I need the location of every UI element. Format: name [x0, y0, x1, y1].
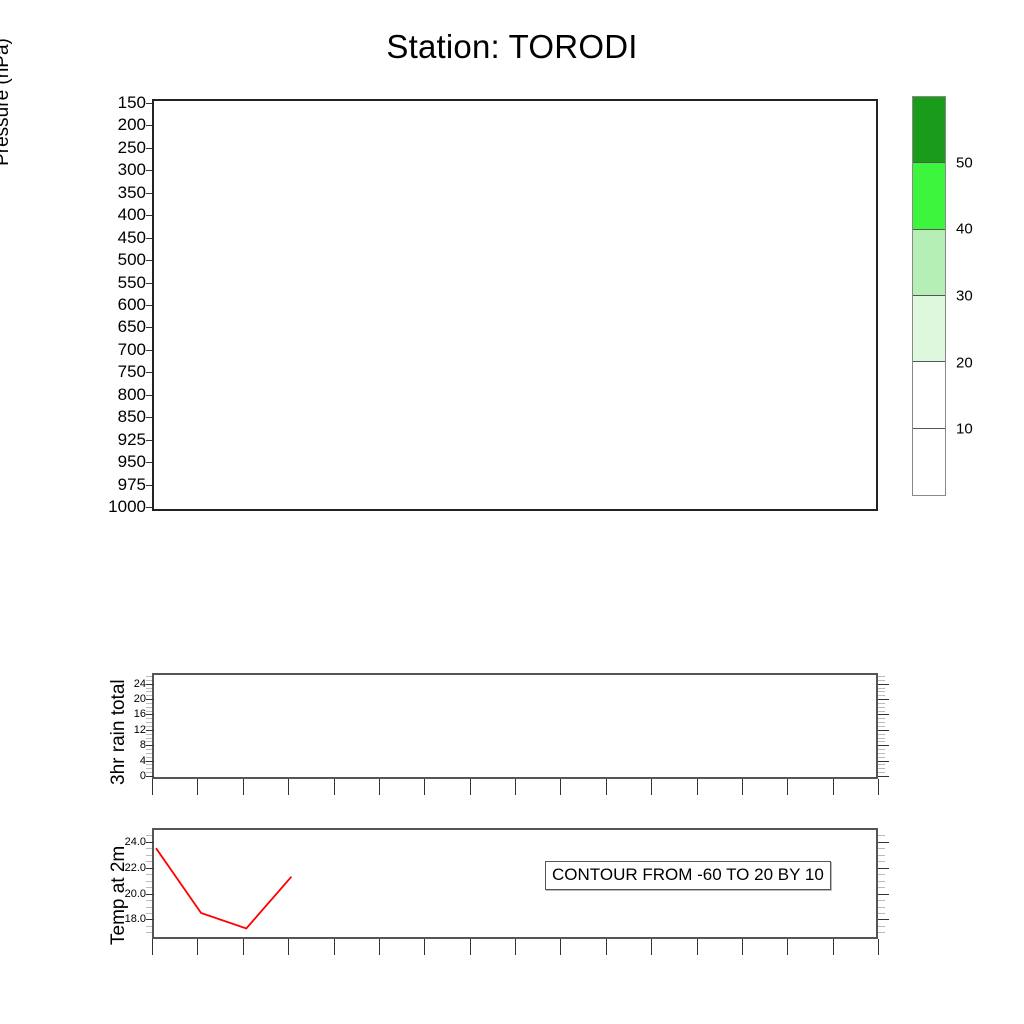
temp-x-tick	[878, 939, 879, 955]
rain-x-tick	[470, 779, 471, 795]
temp-tick-24.0: 24.0	[96, 836, 146, 848]
pressure-tick-350: 350	[84, 183, 146, 203]
rain-right-tickmark	[878, 688, 885, 689]
temp-minor-tick	[146, 907, 152, 908]
temp-right-tickmark	[878, 855, 885, 856]
rain-minor-tick	[146, 714, 152, 715]
temp-minor-tick	[146, 874, 152, 875]
rain-minor-tick	[146, 749, 152, 750]
pressure-tick-750: 750	[84, 362, 146, 382]
temp-minor-tick	[146, 842, 152, 843]
pressure-tick-950: 950	[84, 452, 146, 472]
rain-right-tickmark	[878, 761, 889, 762]
rain-minor-tick	[146, 691, 152, 692]
temp-x-tick	[787, 939, 788, 955]
rain-right-tickmark	[878, 738, 885, 739]
temp-minor-tick	[146, 848, 152, 849]
temp-right-tickmark	[878, 919, 889, 920]
temp-x-tick	[152, 939, 153, 955]
rain-minor-tick	[146, 757, 152, 758]
temp-minor-ticks	[146, 828, 158, 939]
rain-x-axis-ticks	[152, 779, 878, 797]
rain-x-tick	[697, 779, 698, 795]
pressure-tick-550: 550	[84, 273, 146, 293]
rain-right-tickmark	[878, 749, 885, 750]
rain-minor-tick	[146, 745, 152, 746]
temp-minor-tick	[146, 887, 152, 888]
rain-minor-tick	[146, 730, 152, 731]
cross-section-frame	[152, 99, 878, 511]
pressure-tick-300: 300	[84, 160, 146, 180]
temp-x-tick	[833, 939, 834, 955]
rain-right-tickmark	[878, 757, 885, 758]
rain-x-tick	[334, 779, 335, 795]
temp-x-tick	[424, 939, 425, 955]
rain-minor-tick	[146, 764, 152, 765]
rain-x-tick	[197, 779, 198, 795]
rain-x-tick	[379, 779, 380, 795]
pressure-tick-450: 450	[84, 228, 146, 248]
temp-x-tick	[606, 939, 607, 955]
pressure-tick-600: 600	[84, 295, 146, 315]
rain-minor-tick	[146, 741, 152, 742]
rain-right-tickmark	[878, 691, 885, 692]
pressure-tick-200: 200	[84, 115, 146, 135]
temp-x-tick	[560, 939, 561, 955]
rain-right-tickmark	[878, 772, 885, 773]
temp-x-tick	[288, 939, 289, 955]
pressure-tick-500: 500	[84, 250, 146, 270]
rain-x-tick	[606, 779, 607, 795]
temp-tick-20.0: 20.0	[96, 888, 146, 900]
rain-right-tickmark	[878, 753, 885, 754]
rain-right-tickmark	[878, 703, 885, 704]
temp-minor-tick	[146, 919, 152, 920]
page-title: Station: TORODI	[0, 28, 1024, 66]
rain-series-canvas	[154, 675, 876, 777]
temp-right-ticks	[876, 828, 890, 939]
rain-right-tickmark	[878, 707, 885, 708]
temp-minor-tick	[146, 894, 152, 895]
rain-minor-tick	[146, 753, 152, 754]
temp-tick-22.0: 22.0	[96, 862, 146, 874]
rain-minor-tick	[146, 676, 152, 677]
temp-right-tickmark	[878, 835, 885, 836]
pressure-tick-labels: 1502002503003504004505005506006507007508…	[82, 99, 146, 511]
temp-x-tick	[197, 939, 198, 955]
temp-x-tick	[515, 939, 516, 955]
temp-minor-tick	[146, 900, 152, 901]
temp-right-tickmark	[878, 932, 885, 933]
rain-right-tickmark	[878, 730, 889, 731]
temp-series-line	[156, 848, 291, 928]
rain-minor-tick	[146, 703, 152, 704]
rain-right-tickmark	[878, 741, 885, 742]
pressure-tick-800: 800	[84, 385, 146, 405]
colorbar-labels: 1020304050	[912, 96, 1022, 496]
temp-x-tick	[243, 939, 244, 955]
rain-right-tickmark	[878, 695, 885, 696]
temp-x-tick	[379, 939, 380, 955]
rain-minor-tick	[146, 707, 152, 708]
rain-x-tick	[515, 779, 516, 795]
rain-right-tickmark	[878, 745, 889, 746]
rain-minor-tick	[146, 695, 152, 696]
rain-tick-16: 16	[106, 708, 146, 720]
rain-minor-tick	[146, 722, 152, 723]
rain-right-tickmark	[878, 776, 889, 777]
pressure-tick-1000: 1000	[84, 497, 146, 517]
temp-minor-tick	[146, 926, 152, 927]
rain-minor-tick	[146, 684, 152, 685]
rain-x-tick	[787, 779, 788, 795]
rain-tick-0: 0	[106, 770, 146, 782]
rain-minor-tick	[146, 768, 152, 769]
temp-x-tick	[697, 939, 698, 955]
rain-minor-ticks	[146, 673, 158, 779]
pressure-tick-925: 925	[84, 430, 146, 450]
rain-right-tickmark	[878, 676, 885, 677]
rain-x-tick	[878, 779, 879, 795]
rain-minor-tick	[146, 718, 152, 719]
colorbar-label-10: 10	[956, 421, 973, 438]
rain-right-tickmark	[878, 734, 885, 735]
temp-tick-18.0: 18.0	[96, 913, 146, 925]
temp-minor-tick	[146, 855, 152, 856]
temp-right-tickmark	[878, 881, 885, 882]
rain-minor-tick	[146, 680, 152, 681]
temp-minor-tick	[146, 835, 152, 836]
rain-minor-tick	[146, 688, 152, 689]
temp-right-tickmark	[878, 900, 885, 901]
rain-x-tick	[288, 779, 289, 795]
rain-right-tickmark	[878, 764, 885, 765]
pressure-tick-250: 250	[84, 138, 146, 158]
rain-minor-tick	[146, 711, 152, 712]
rain-tick-24: 24	[106, 678, 146, 690]
pressure-tick-400: 400	[84, 205, 146, 225]
rain-x-tick	[742, 779, 743, 795]
colorbar-label-50: 50	[956, 154, 973, 171]
rain-x-tick	[152, 779, 153, 795]
rain-x-tick	[651, 779, 652, 795]
colorbar-label-30: 30	[956, 288, 973, 305]
rain-minor-tick	[146, 761, 152, 762]
temp-x-tick	[651, 939, 652, 955]
rain-tick-20: 20	[106, 693, 146, 705]
rain-minor-tick	[146, 772, 152, 773]
colorbar-label-20: 20	[956, 354, 973, 371]
temp-right-tickmark	[878, 907, 885, 908]
temp-right-tickmark	[878, 894, 889, 895]
pressure-tick-150: 150	[84, 93, 146, 113]
temp-right-tickmark	[878, 874, 885, 875]
rain-right-tickmark	[878, 722, 885, 723]
temp-right-tickmark	[878, 887, 885, 888]
temp-minor-tick	[146, 868, 152, 869]
temp-x-tick	[470, 939, 471, 955]
temp-tick-labels: 18.020.022.024.0	[96, 828, 150, 939]
temp-minor-tick	[146, 881, 152, 882]
rain-x-tick	[424, 779, 425, 795]
temp-right-tickmark	[878, 913, 885, 914]
rain-tick-labels: 04812162024	[106, 673, 150, 779]
temp-x-tick	[334, 939, 335, 955]
rain-tick-12: 12	[106, 724, 146, 736]
rain-right-tickmark	[878, 768, 885, 769]
temp-right-tickmark	[878, 861, 885, 862]
rain-x-tick	[560, 779, 561, 795]
rain-right-tickmark	[878, 711, 885, 712]
temp-minor-tick	[146, 861, 152, 862]
rain-right-tickmark	[878, 714, 889, 715]
temp-right-tickmark	[878, 842, 889, 843]
rain-minor-tick	[146, 726, 152, 727]
main-y-axis-label: Pressure (hPa)	[0, 0, 14, 232]
cross-section-plot[interactable]: 10 10 10 10 10 10 10 30 30 30 30 30 30 3…	[152, 99, 878, 511]
rain-right-tickmark	[878, 718, 885, 719]
rain-total-plot[interactable]	[152, 673, 878, 779]
temp-right-tickmark	[878, 926, 885, 927]
temp-right-tickmark	[878, 868, 889, 869]
temp-x-tick	[742, 939, 743, 955]
rain-x-tick	[243, 779, 244, 795]
colorbar-label-40: 40	[956, 221, 973, 238]
rain-tick-8: 8	[106, 739, 146, 751]
rain-right-tickmark	[878, 680, 885, 681]
rain-tick-4: 4	[106, 755, 146, 767]
pressure-tick-700: 700	[84, 340, 146, 360]
rain-x-tick	[833, 779, 834, 795]
pressure-tick-975: 975	[84, 475, 146, 495]
rain-minor-tick	[146, 699, 152, 700]
rain-right-tickmark	[878, 699, 889, 700]
contour-note: CONTOUR FROM -60 TO 20 BY 10	[545, 861, 831, 890]
rain-right-tickmark	[878, 726, 885, 727]
rain-minor-tick	[146, 738, 152, 739]
rain-right-ticks	[876, 673, 890, 779]
temp-right-tickmark	[878, 848, 885, 849]
temp-x-axis-ticks	[152, 939, 878, 957]
temp-minor-tick	[146, 932, 152, 933]
rain-minor-tick	[146, 734, 152, 735]
rain-right-tickmark	[878, 684, 889, 685]
temp-minor-tick	[146, 913, 152, 914]
pressure-tick-850: 850	[84, 407, 146, 427]
pressure-tick-650: 650	[84, 317, 146, 337]
rain-minor-tick	[146, 776, 152, 777]
